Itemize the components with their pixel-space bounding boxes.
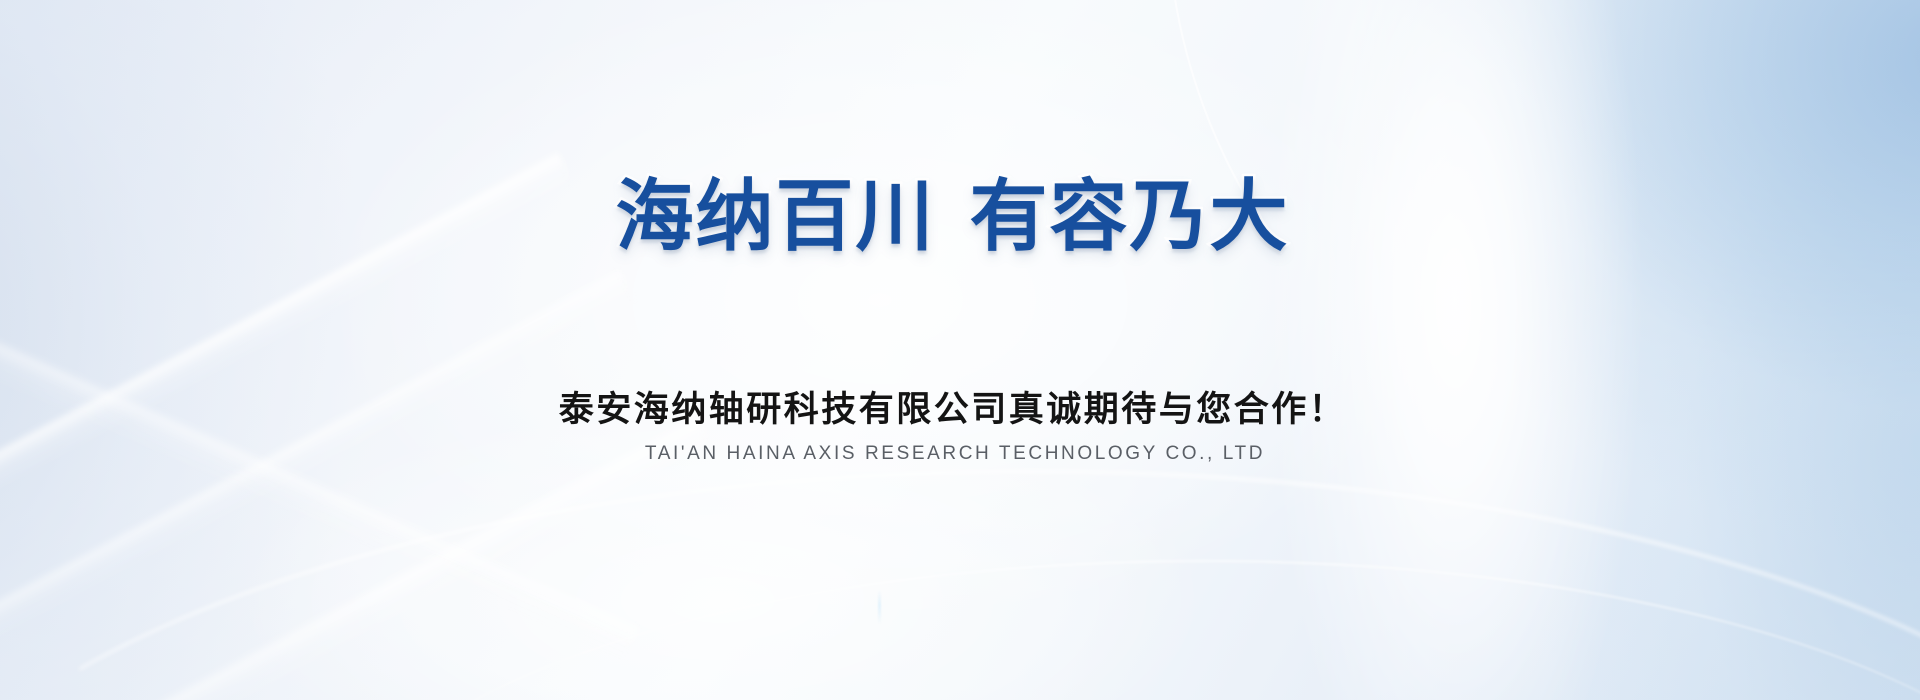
- banner-headline: 海纳百川有容乃大: [0, 168, 1905, 264]
- headline-phrase-two: 有容乃大: [970, 172, 1290, 260]
- hero-banner: 海纳百川有容乃大 泰安海纳轴研科技有限公司真诚期待与您合作！ TAI'AN HA…: [0, 0, 1920, 700]
- banner-subtitle-chinese: 泰安海纳轴研科技有限公司真诚期待与您合作！: [0, 386, 1905, 434]
- headline-phrase-one: 海纳百川: [615, 172, 935, 260]
- banner-subtitle-english: TAI'AN HAINA AXIS RESEARCH TECHNOLOGY CO…: [0, 440, 1910, 468]
- banner-content: 海纳百川有容乃大 泰安海纳轴研科技有限公司真诚期待与您合作！ TAI'AN HA…: [0, 0, 1920, 700]
